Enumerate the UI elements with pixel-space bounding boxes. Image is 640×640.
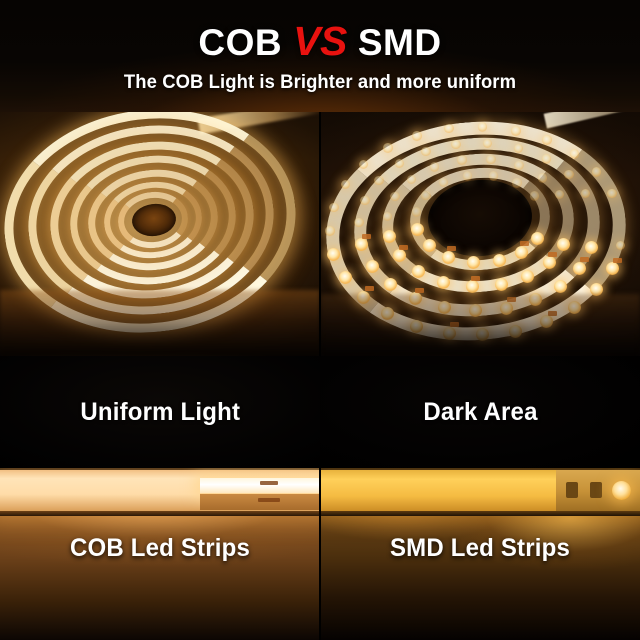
smd-led-dot (478, 122, 487, 131)
title-cob: COB (198, 22, 282, 64)
smd-led-dot (383, 143, 392, 152)
smd-led-dot (463, 171, 472, 180)
header-banner: COBVSSMD The COB Light is Brighter and m… (0, 0, 640, 112)
panel-divider-bottom (319, 468, 321, 640)
smd-led-dot (573, 262, 586, 275)
smd-led-dot (366, 260, 379, 273)
smd-led-dot (511, 126, 520, 135)
smd-resistor (548, 252, 557, 257)
dark-area-cell: Dark Area (320, 356, 640, 468)
smd-led-dot (339, 271, 352, 284)
smd-led-dot (542, 154, 551, 163)
cob-floor-reflection (0, 290, 320, 356)
middle-label-band: Uniform Light Dark Area (0, 356, 640, 468)
smd-led-dot (515, 246, 528, 259)
caption-smd-led-strips: SMD Led Strips (326, 534, 633, 563)
smd-led-dot (495, 278, 508, 291)
smd-led-dot (489, 171, 498, 180)
cob-scene (0, 104, 320, 356)
smd-led-dot (329, 203, 338, 212)
page-title: COBVSSMD (0, 18, 640, 65)
smd-led-dot (554, 280, 567, 293)
smd-resistor (520, 241, 529, 246)
smd-led-dot (437, 276, 450, 289)
smd-strip-photo: SMD Led Strips (320, 468, 640, 640)
smd-led-dot (421, 191, 430, 200)
smd-led-dot (325, 226, 334, 235)
caption-cob-led-strips: COB Led Strips (6, 534, 313, 563)
smd-floor-reflection (320, 294, 640, 356)
smd-chip (590, 482, 602, 498)
smd-led-dot (616, 241, 625, 250)
page-subtitle: The COB Light is Brighter and more unifo… (10, 72, 631, 94)
comparison-infographic: COBVSSMD The COB Light is Brighter and m… (0, 0, 640, 640)
cob-strip-photo: COB Led Strips (0, 468, 320, 640)
smd-reel-photo (320, 104, 640, 356)
cob-pcb-section (200, 494, 320, 510)
smd-led-dot (360, 196, 369, 205)
cob-bar-edge (0, 511, 320, 516)
smd-led-dot (390, 192, 399, 201)
smd-led-dot (407, 175, 416, 184)
smd-led-dot (564, 170, 573, 179)
smd-led-dot (451, 140, 460, 149)
uniform-light-cell: Uniform Light (0, 356, 320, 468)
smd-led-dot (531, 232, 544, 245)
smd-led-dot (514, 144, 523, 153)
smd-led-dot (412, 131, 421, 140)
smd-led-dot (374, 176, 383, 185)
cob-reel-photo (0, 104, 320, 356)
smd-led-dot (542, 135, 551, 144)
smd-led-dot (612, 481, 631, 500)
panel-divider-top (319, 104, 321, 356)
smd-led-dot (543, 256, 556, 269)
smd-led-dot (585, 241, 598, 254)
smd-resistor (447, 246, 456, 251)
smd-resistor (415, 288, 424, 293)
smd-resistor (399, 245, 408, 250)
smd-led-dot (592, 167, 601, 176)
smd-resistor (613, 258, 622, 263)
smd-led-dot (383, 230, 396, 243)
smd-led-dot (457, 155, 466, 164)
pcb-marking (260, 481, 278, 485)
smd-scene (320, 104, 640, 356)
label-uniform-light: Uniform Light (80, 398, 240, 427)
title-smd: SMD (358, 22, 442, 64)
smd-resistor (471, 276, 480, 281)
smd-bar-edge (320, 511, 640, 516)
smd-led-dot (421, 147, 430, 156)
smd-led-dot (466, 280, 479, 293)
smd-led-dot (430, 162, 439, 171)
smd-led-dot (607, 189, 616, 198)
title-vs: VS (293, 18, 347, 65)
smd-resistor (365, 286, 374, 291)
smd-led-dot (512, 178, 521, 187)
pcb-marking (258, 498, 280, 502)
smd-chip (566, 482, 578, 498)
smd-led-dot (570, 149, 579, 158)
smd-led-dot (606, 262, 619, 275)
smd-led-dot (514, 161, 523, 170)
smd-led-dot (538, 173, 547, 182)
smd-led-dot (383, 212, 392, 221)
smd-led-dot (354, 218, 363, 227)
smd-resistor (580, 257, 589, 262)
label-dark-area: Dark Area (423, 398, 537, 427)
smd-led-dot (486, 155, 495, 164)
smd-exposed-section (556, 470, 640, 512)
smd-resistor (362, 234, 371, 239)
